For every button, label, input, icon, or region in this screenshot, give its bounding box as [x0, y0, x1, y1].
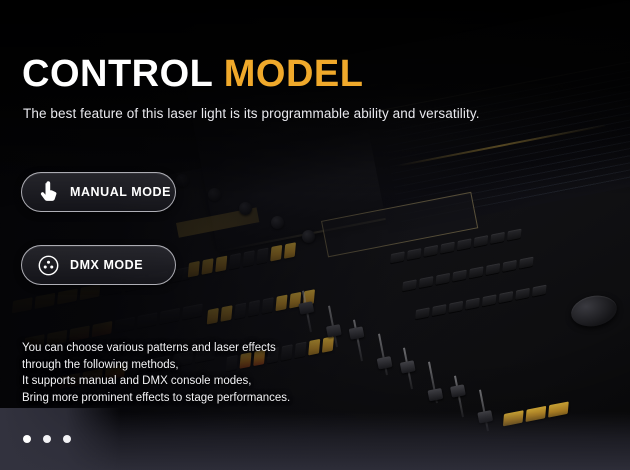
description-line: You can choose various patterns and lase… [22, 340, 290, 357]
manual-mode-button[interactable]: MANUAL MODE [21, 172, 176, 212]
subtitle-text: The best feature of this laser light is … [23, 106, 480, 121]
carousel-dots [23, 435, 71, 443]
dmx-mode-label: DMX MODE [70, 258, 143, 272]
manual-mode-label: MANUAL MODE [70, 185, 171, 199]
carousel-dot-2[interactable] [43, 435, 51, 443]
page-title-main: CONTROL [22, 53, 213, 95]
carousel-dot-1[interactable] [23, 435, 31, 443]
description-line: through the following methods, [22, 357, 290, 374]
description-line: Bring more prominent effects to stage pe… [22, 390, 290, 407]
control-model-banner: CONTROL MODEL The best feature of this l… [0, 0, 630, 470]
dmx-connector-icon [35, 252, 61, 278]
carousel-dot-3[interactable] [63, 435, 71, 443]
dmx-mode-button[interactable]: DMX MODE [21, 245, 176, 285]
page-title-accent: MODEL [224, 53, 364, 95]
page-title: CONTROL MODEL [22, 55, 363, 93]
banner-content: CONTROL MODEL The best feature of this l… [0, 0, 630, 470]
description-line: It supports manual and DMX console modes… [22, 373, 290, 390]
description-paragraph: You can choose various patterns and lase… [22, 340, 290, 406]
hand-tap-icon [35, 179, 61, 205]
